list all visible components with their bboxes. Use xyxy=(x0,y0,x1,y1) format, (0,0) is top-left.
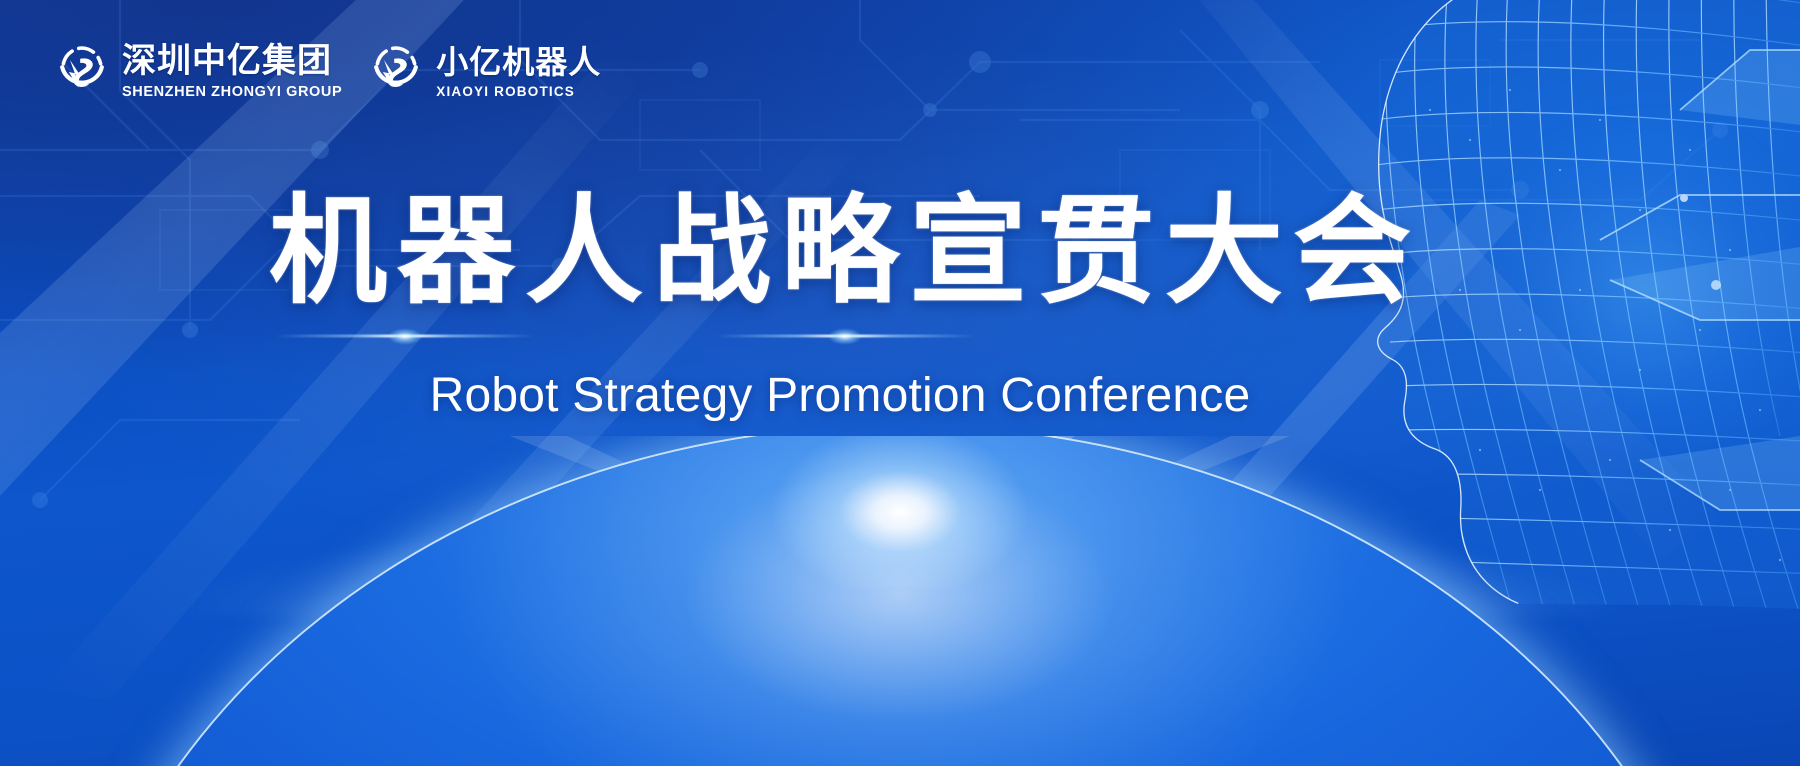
event-banner: 深圳中亿集团 SHENZHEN ZHONGYI GROUP 小亿机器人 XIAO… xyxy=(0,0,1800,766)
light-streak-divider-right xyxy=(715,335,975,338)
xiaoyi-circle-logo-icon xyxy=(366,42,426,102)
title-block: 机器人战略宣贯大会 Robot Strategy Promotion Confe… xyxy=(0,186,1800,423)
light-streak-divider-left xyxy=(275,335,535,338)
zhongyi-circle-logo-icon xyxy=(52,42,112,102)
page-subtitle: Robot Strategy Promotion Conference xyxy=(430,368,1251,423)
logo-en-label: XIAOYI ROBOTICS xyxy=(436,85,601,99)
logo-cn-label: 深圳中亿集团 xyxy=(122,44,342,78)
divider-group xyxy=(0,324,1740,348)
logo-group: 深圳中亿集团 SHENZHEN ZHONGYI GROUP 小亿机器人 XIAO… xyxy=(52,42,601,102)
logo-xiaoyi-robotics[interactable]: 小亿机器人 XIAOYI ROBOTICS xyxy=(366,42,601,102)
logo-en-label: SHENZHEN ZHONGYI GROUP xyxy=(122,85,342,100)
logo-shenzhen-zhongyi-group[interactable]: 深圳中亿集团 SHENZHEN ZHONGYI GROUP xyxy=(52,42,342,102)
logo-cn-label: 小亿机器人 xyxy=(436,46,601,78)
page-title: 机器人战略宣贯大会 xyxy=(259,186,1421,318)
